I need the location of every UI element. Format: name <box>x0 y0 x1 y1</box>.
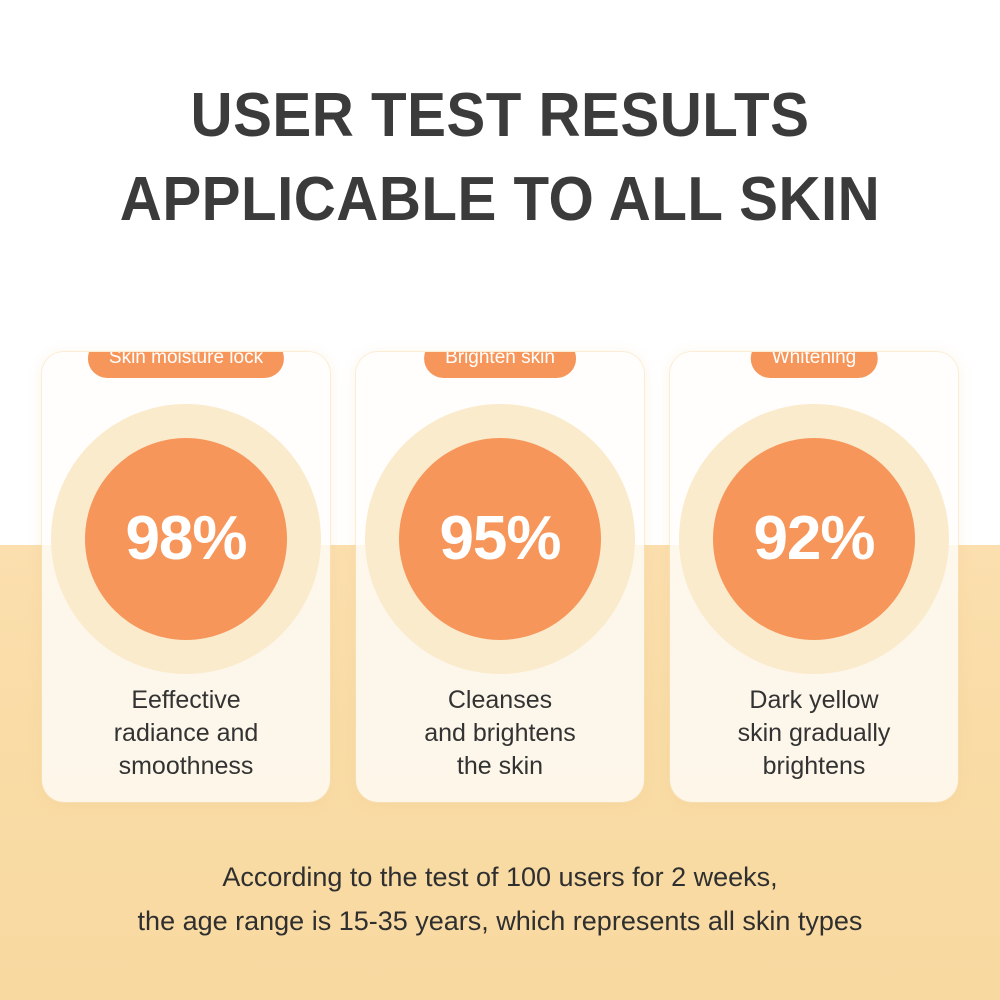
gauge-inner-circle: 92% <box>713 438 915 640</box>
result-card-skin-moisture-lock: Skin moisture lock 98% Eeffective radian… <box>42 352 330 802</box>
result-card-list: Skin moisture lock 98% Eeffective radian… <box>42 352 958 802</box>
percentage-gauge: 98% <box>51 404 321 674</box>
gauge-inner-circle: 95% <box>399 438 601 640</box>
page-title-line-2: APPLICABLE TO ALL SKIN <box>30 158 970 242</box>
page-title: USER TEST RESULTS APPLICABLE TO ALL SKIN <box>30 74 970 242</box>
result-card-brighten-skin: Brighten skin 95% Cleanses and brightens… <box>356 352 644 802</box>
card-description: Dark yellow skin gradually brightens <box>670 684 958 783</box>
gauge-value: 98% <box>125 508 246 570</box>
percentage-gauge: 95% <box>365 404 635 674</box>
card-description-line-3: smoothness <box>42 750 330 783</box>
card-description-line-3: brightens <box>670 750 958 783</box>
infographic-page: USER TEST RESULTS APPLICABLE TO ALL SKIN… <box>0 0 1000 1000</box>
card-description-line-1: Cleanses <box>356 684 644 717</box>
card-description-line-3: the skin <box>356 750 644 783</box>
footnote-line-1: According to the test of 100 users for 2… <box>0 855 1000 899</box>
gauge-value: 92% <box>753 508 874 570</box>
card-description-line-2: radiance and <box>42 717 330 750</box>
gauge-value: 95% <box>439 508 560 570</box>
footnote: According to the test of 100 users for 2… <box>0 855 1000 943</box>
card-badge: Brighten skin <box>424 352 576 378</box>
card-description-line-1: Dark yellow <box>670 684 958 717</box>
card-description: Cleanses and brightens the skin <box>356 684 644 783</box>
card-badge: Whitening <box>751 352 878 378</box>
gauge-inner-circle: 98% <box>85 438 287 640</box>
percentage-gauge: 92% <box>679 404 949 674</box>
card-description-line-1: Eeffective <box>42 684 330 717</box>
card-description-line-2: and brightens <box>356 717 644 750</box>
footnote-line-2: the age range is 15-35 years, which repr… <box>0 899 1000 943</box>
page-title-line-1: USER TEST RESULTS <box>30 74 970 158</box>
card-badge: Skin moisture lock <box>88 352 284 378</box>
card-description: Eeffective radiance and smoothness <box>42 684 330 783</box>
result-card-whitening: Whitening 92% Dark yellow skin gradually… <box>670 352 958 802</box>
card-description-line-2: skin gradually <box>670 717 958 750</box>
